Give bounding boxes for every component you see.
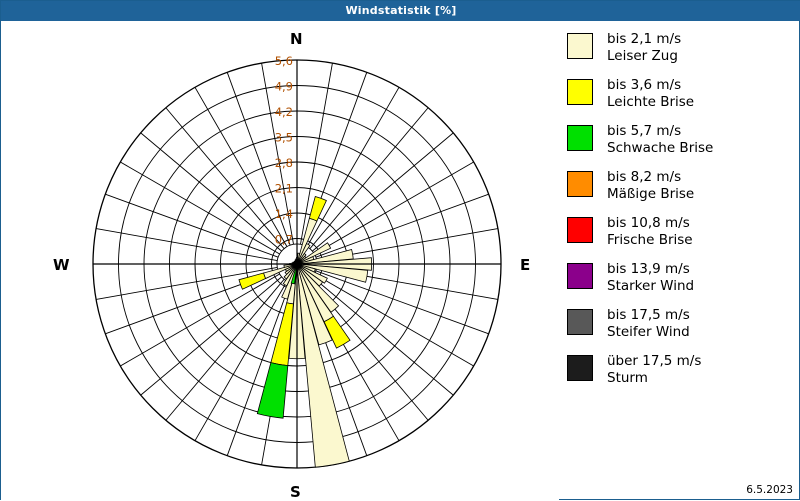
legend-text: über 17,5 m/sSturm xyxy=(607,353,701,387)
legend-text: bis 8,2 m/sMäßige Brise xyxy=(607,169,694,203)
r-axis-tick-label: 2,8 xyxy=(275,156,293,170)
legend-name: Leichte Brise xyxy=(607,94,694,111)
legend-name: Frische Brise xyxy=(607,232,693,249)
windrose-svg: 0,71,42,12,83,54,24,95,6 xyxy=(1,21,559,500)
compass-label-n: N xyxy=(290,30,303,48)
compass-label-s: S xyxy=(290,483,301,501)
legend-speed: bis 8,2 m/s xyxy=(607,169,694,186)
legend-speed: bis 17,5 m/s xyxy=(607,307,690,324)
windrose-petal-segment xyxy=(257,363,288,419)
legend-swatch-icon xyxy=(567,79,593,105)
legend-speed: über 17,5 m/s xyxy=(607,353,701,370)
legend-name: Leiser Zug xyxy=(607,48,681,65)
legend-speed: bis 2,1 m/s xyxy=(607,31,681,48)
legend-item: bis 3,6 m/sLeichte Brise xyxy=(567,77,797,117)
legend-swatch-icon xyxy=(567,309,593,335)
legend-item: bis 17,5 m/sSteifer Wind xyxy=(567,307,797,347)
legend: bis 2,1 m/sLeiser Zugbis 3,6 m/sLeichte … xyxy=(567,31,797,399)
windstatistik-window: Windstatistik [%] 0,71,42,12,83,54,24,95… xyxy=(0,0,800,500)
windrose-plot: 0,71,42,12,83,54,24,95,6 N E S W xyxy=(1,21,559,500)
legend-swatch-icon xyxy=(567,33,593,59)
legend-text: bis 10,8 m/sFrische Brise xyxy=(607,215,693,249)
legend-item: über 17,5 m/sSturm xyxy=(567,353,797,393)
r-axis-tick-label: 2,1 xyxy=(275,182,293,196)
windrose-petal-segment xyxy=(239,273,266,289)
r-axis-tick-label: 1,4 xyxy=(275,207,293,221)
legend-swatch-icon xyxy=(567,171,593,197)
legend-swatch-icon xyxy=(567,263,593,289)
petal-layer xyxy=(239,196,372,467)
legend-name: Starker Wind xyxy=(607,278,694,295)
legend-text: bis 13,9 m/sStarker Wind xyxy=(607,261,694,295)
legend-speed: bis 5,7 m/s xyxy=(607,123,713,140)
legend-item: bis 5,7 m/sSchwache Brise xyxy=(567,123,797,163)
legend-item: bis 13,9 m/sStarker Wind xyxy=(567,261,797,301)
legend-text: bis 5,7 m/sSchwache Brise xyxy=(607,123,713,157)
legend-name: Sturm xyxy=(607,370,701,387)
rtick-layer: 0,71,42,12,83,54,24,95,6 xyxy=(275,54,293,247)
window-titlebar: Windstatistik [%] xyxy=(1,1,800,21)
legend-text: bis 3,6 m/sLeichte Brise xyxy=(607,77,694,111)
legend-item: bis 10,8 m/sFrische Brise xyxy=(567,215,797,255)
r-axis-tick-label: 4,9 xyxy=(275,80,293,94)
legend-text: bis 17,5 m/sSteifer Wind xyxy=(607,307,690,341)
axis-layer xyxy=(93,60,501,468)
date-stamp: 6.5.2023 xyxy=(746,484,793,496)
legend-name: Steifer Wind xyxy=(607,324,690,341)
r-axis-tick-label: 3,5 xyxy=(275,131,293,145)
legend-item: bis 8,2 m/sMäßige Brise xyxy=(567,169,797,209)
legend-name: Schwache Brise xyxy=(607,140,713,157)
legend-text: bis 2,1 m/sLeiser Zug xyxy=(607,31,681,65)
legend-swatch-icon xyxy=(567,125,593,151)
legend-speed: bis 10,8 m/s xyxy=(607,215,693,232)
legend-speed: bis 3,6 m/s xyxy=(607,77,694,94)
r-axis-tick-label: 4,2 xyxy=(275,105,293,119)
compass-label-e: E xyxy=(520,256,530,274)
legend-name: Mäßige Brise xyxy=(607,186,694,203)
compass-label-w: W xyxy=(53,256,70,274)
legend-speed: bis 13,9 m/s xyxy=(607,261,694,278)
legend-item: bis 2,1 m/sLeiser Zug xyxy=(567,31,797,71)
legend-swatch-icon xyxy=(567,217,593,243)
legend-swatch-icon xyxy=(567,355,593,381)
r-axis-tick-label: 0,7 xyxy=(275,233,293,247)
r-axis-tick-label: 5,6 xyxy=(275,54,293,68)
window-title: Windstatistik [%] xyxy=(345,4,456,17)
